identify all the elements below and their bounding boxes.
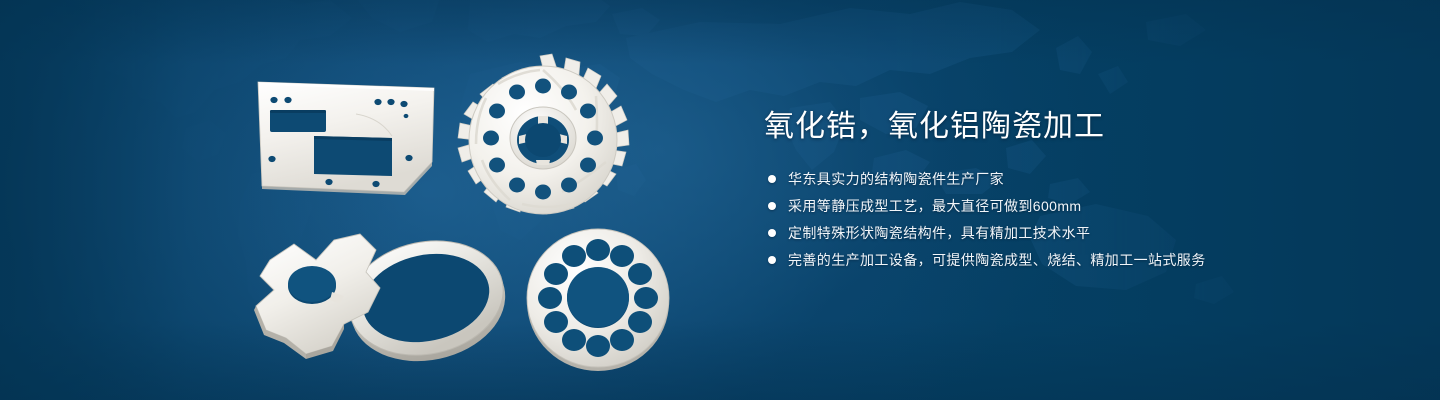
- list-item: 完善的生产加工设备，可提供陶瓷成型、烧结、精加工一站式服务: [764, 249, 1324, 270]
- feature-text: 华东具实力的结构陶瓷件生产厂家: [788, 170, 1004, 188]
- list-item: 华东具实力的结构陶瓷件生产厂家: [764, 168, 1324, 189]
- feature-list: 华东具实力的结构陶瓷件生产厂家 采用等静压成型工艺，最大直径可做到600mm 定…: [764, 168, 1324, 270]
- feature-text: 采用等静压成型工艺，最大直径可做到600mm: [788, 197, 1081, 215]
- list-item: 采用等静压成型工艺，最大直径可做到600mm: [764, 195, 1324, 216]
- hero-banner: 氧化锆，氧化铝陶瓷加工 华东具实力的结构陶瓷件生产厂家 采用等静压成型工艺，最大…: [0, 0, 1440, 400]
- list-item: 定制特殊形状陶瓷结构件，具有精加工技术水平: [764, 222, 1324, 243]
- ceramic-perforated-disc: [518, 218, 678, 378]
- banner-headline: 氧化锆，氧化铝陶瓷加工: [764, 108, 1324, 146]
- product-photo-cluster: [0, 0, 760, 400]
- bullet-dot-icon: [768, 175, 776, 183]
- ceramic-impeller-disc: [448, 52, 638, 232]
- bullet-dot-icon: [768, 256, 776, 264]
- feature-text: 定制特殊形状陶瓷结构件，具有精加工技术水平: [788, 224, 1090, 242]
- ceramic-cross-plate-and-ring: [248, 222, 528, 372]
- bullet-dot-icon: [768, 202, 776, 210]
- ceramic-mounting-plate: [252, 78, 440, 198]
- feature-text: 完善的生产加工设备，可提供陶瓷成型、烧结、精加工一站式服务: [788, 251, 1206, 269]
- banner-copy: 氧化锆，氧化铝陶瓷加工 华东具实力的结构陶瓷件生产厂家 采用等静压成型工艺，最大…: [764, 108, 1324, 276]
- bullet-dot-icon: [768, 229, 776, 237]
